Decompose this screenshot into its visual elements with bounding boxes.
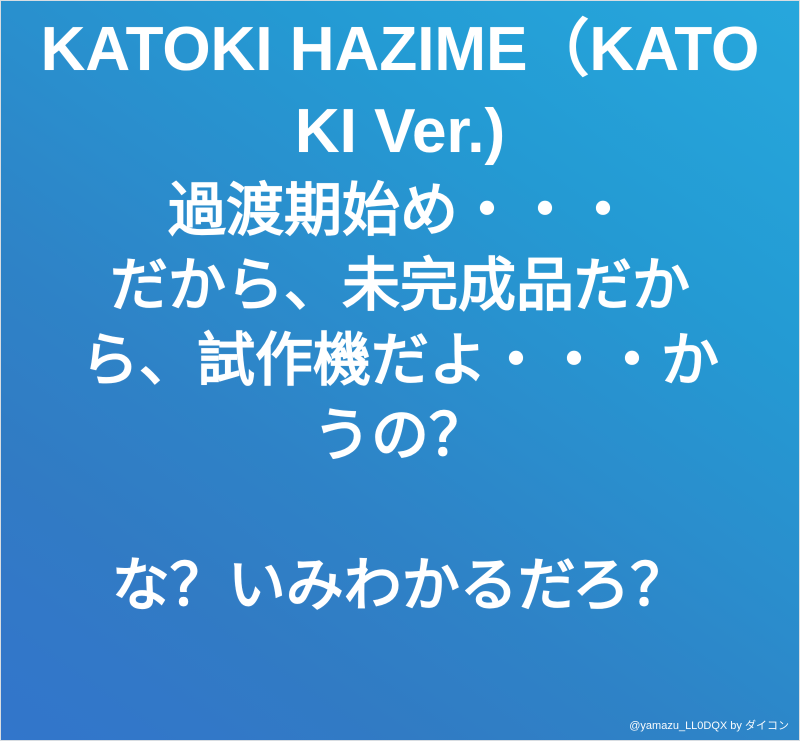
message-line-3: 過渡期始め・・・ — [15, 173, 785, 248]
message-line-1: KATOKI HAZIME（KATO — [15, 9, 785, 91]
text-image-card: KATOKI HAZIME（KATO KI Ver.) 過渡期始め・・・ だから… — [0, 0, 800, 741]
message-line-8: な？いみわかるだろ？ — [15, 548, 785, 623]
message-text-block: KATOKI HAZIME（KATO KI Ver.) 過渡期始め・・・ だから… — [1, 9, 799, 623]
message-line-blank — [15, 473, 785, 548]
message-line-6: うの？ — [15, 398, 785, 473]
message-line-2: KI Ver.) — [15, 91, 785, 173]
message-line-4: だから、未完成品だか — [15, 248, 785, 323]
message-line-5: ら、試作機だよ・・・か — [15, 323, 785, 398]
watermark-credit: @yamazu_LL0DQX by ダイコン — [629, 717, 789, 733]
